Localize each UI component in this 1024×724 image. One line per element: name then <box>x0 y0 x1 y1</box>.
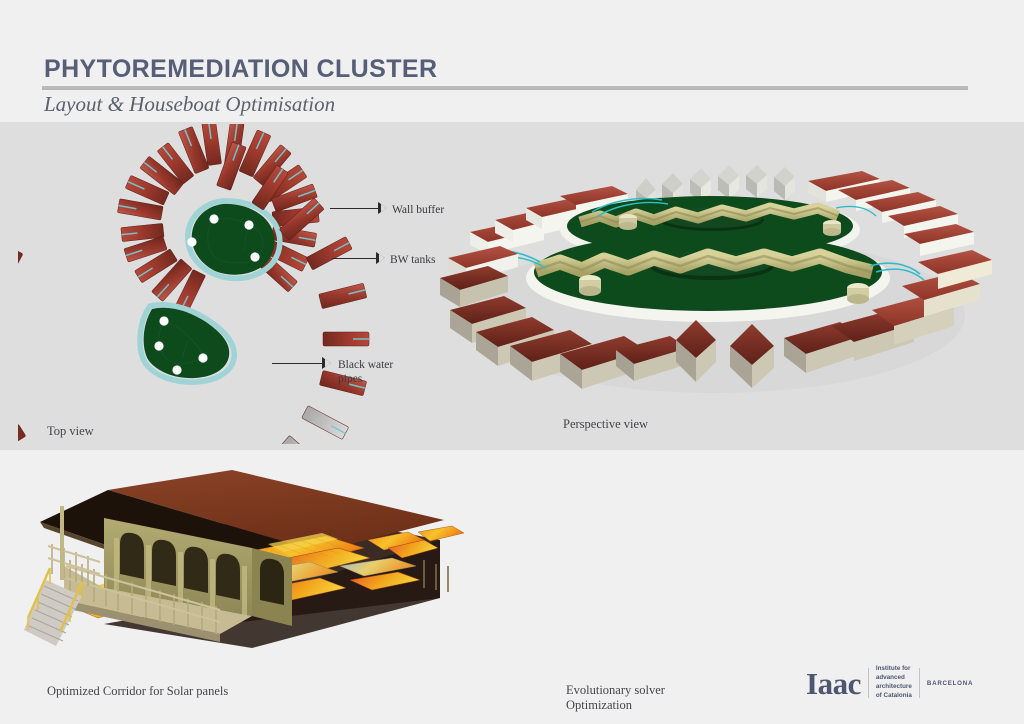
page-subtitle: Layout & Houseboat Optimisation <box>44 92 335 117</box>
board-header: PHYTOREMEDIATION CLUSTER Layout & Houseb… <box>0 0 1024 122</box>
top-view-diagram <box>18 124 438 444</box>
iaac-full-name: Institute for advanced architecture of C… <box>876 665 912 701</box>
iaac-logo: Iaac Institute for advanced architecture… <box>806 666 973 700</box>
annotation-black-water-pipes: Black water pipes <box>338 358 393 386</box>
houseboat-solar-render <box>20 448 490 658</box>
plot-a-houseboats <box>117 124 319 313</box>
perspective-view-diagram <box>440 150 1000 410</box>
iaac-wordmark: Iaac <box>806 668 861 699</box>
arrow-bw-tanks <box>332 252 384 264</box>
plot-a-green <box>192 204 275 275</box>
arrow-wall-buffer <box>330 202 386 214</box>
annotation-bw-tanks: BW tanks <box>390 253 435 267</box>
caption-evolutionary-solver: Evolutionary solver Optimization <box>566 683 665 714</box>
presentation-board: PHYTOREMEDIATION CLUSTER Layout & Houseb… <box>0 0 1024 724</box>
page-title: PHYTOREMEDIATION CLUSTER <box>44 55 437 84</box>
iaac-city: BARCELONA <box>927 680 973 687</box>
annotation-wall-buffer: Wall buffer <box>392 203 444 217</box>
logo-divider-2 <box>919 668 920 698</box>
caption-perspective-view: Perspective view <box>563 417 648 432</box>
caption-top-view: Top view <box>47 424 94 439</box>
logo-divider-1 <box>868 668 869 698</box>
arrow-black-water-pipes <box>272 357 330 369</box>
header-divider <box>42 86 968 90</box>
caption-solar-corridor: Optimized Corridor for Solar panels <box>47 684 228 699</box>
